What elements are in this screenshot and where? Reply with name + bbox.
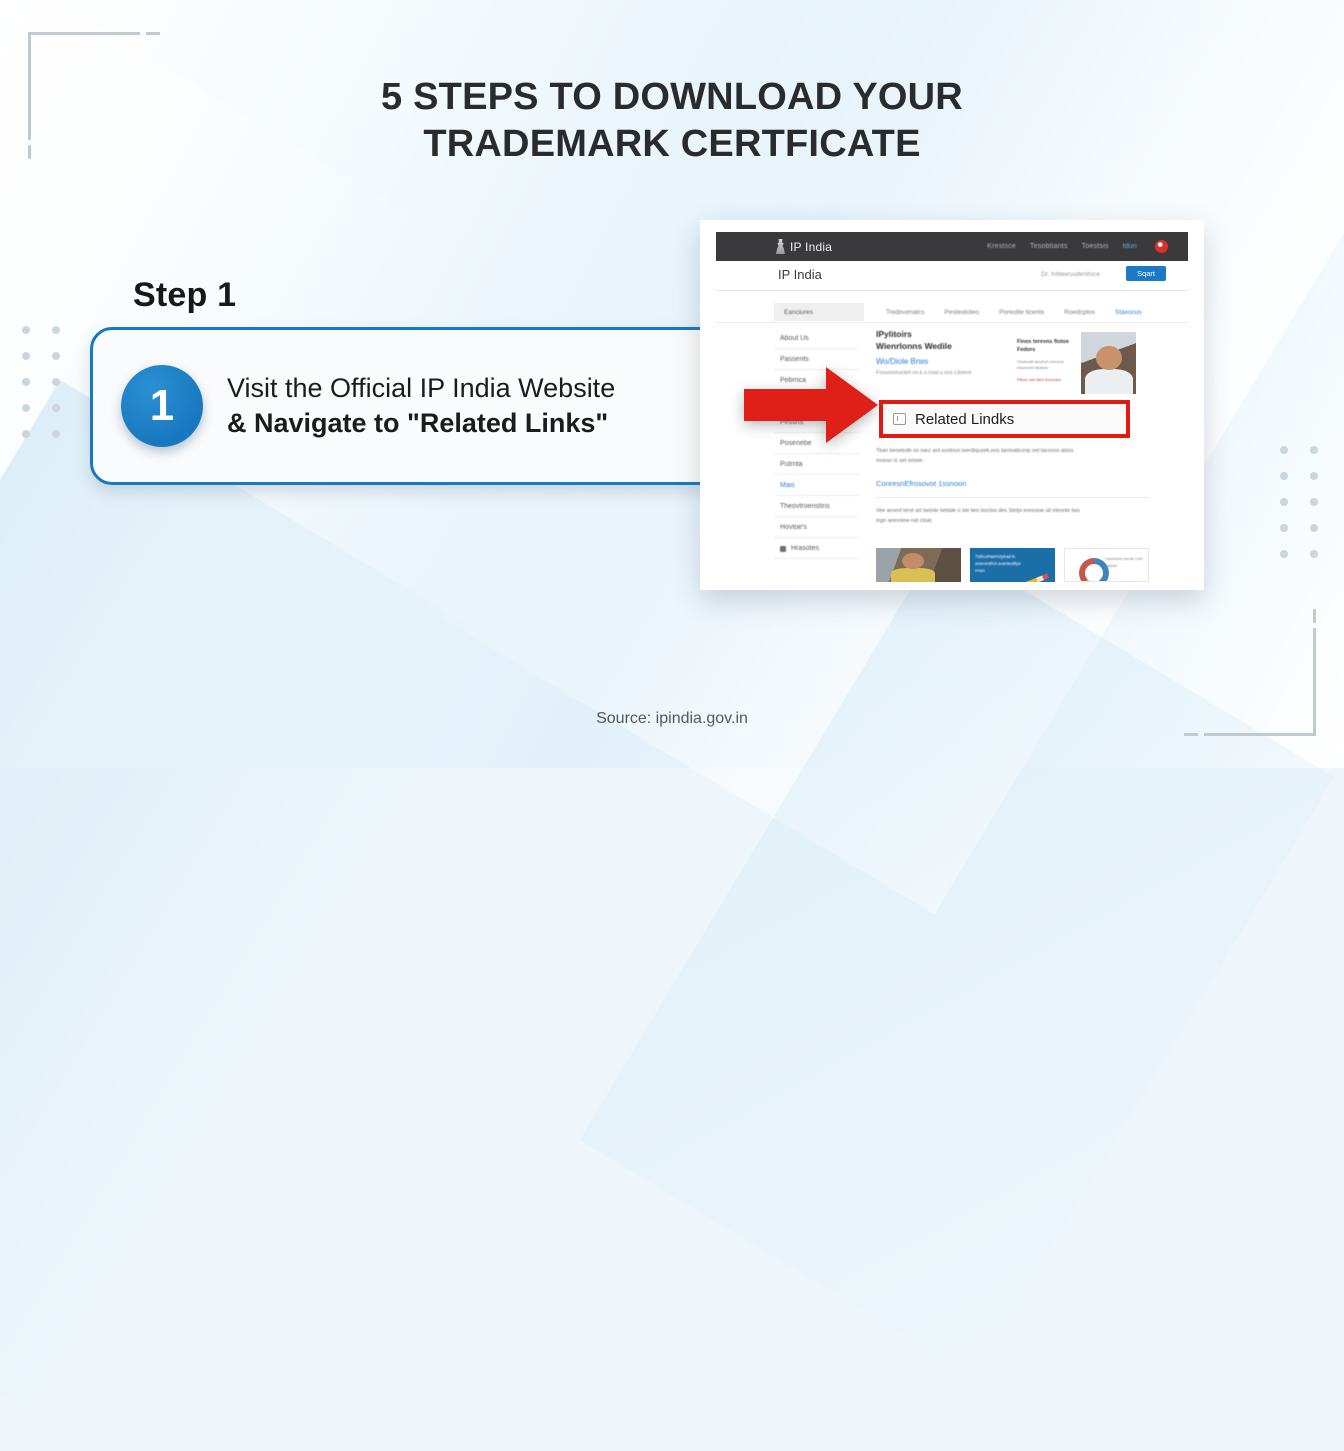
mockup-card-text: Yssosnnnt oenae t,srh edsbstr bbox=[1105, 556, 1143, 570]
mockup-tab[interactable]: Staxocus bbox=[1115, 309, 1142, 316]
mockup-banner-photo bbox=[1081, 332, 1136, 394]
right-arrow-icon bbox=[744, 367, 878, 443]
mockup-tab-list: Tredisomalcs Pesteototeo Poreotte ticent… bbox=[886, 309, 1142, 316]
mockup-emblem-card[interactable]: Yssosnnnt oenae t,srh edsbstr bbox=[1064, 548, 1149, 582]
corner-bracket-horizontal bbox=[28, 32, 140, 35]
page-title-line1: 5 STEPS TO DOWNLOAD YOUR bbox=[381, 76, 963, 118]
mockup-paragraph-line: ingn anevriew nat cloat. bbox=[876, 516, 1150, 526]
mockup-paragraph-line: Vee aroevt terst art lseiote belsde o st… bbox=[876, 506, 1150, 516]
dot bbox=[1310, 472, 1318, 480]
pencil-icon bbox=[1004, 573, 1049, 582]
step-heading: Step 1 bbox=[133, 276, 236, 315]
mockup-brand[interactable]: IP India bbox=[776, 239, 832, 254]
dot-grid-left bbox=[22, 326, 60, 438]
mockup-search-hint: Dr. lntbeesudentisce bbox=[1041, 271, 1100, 278]
mockup-banner-tagline: Pttoor uan ttino Ecrcvam bbox=[1017, 377, 1076, 382]
mockup-paragraph-line: moesn is set orisee. bbox=[876, 456, 1150, 466]
dot bbox=[1310, 524, 1318, 532]
mockup-banner[interactable]: Fines terevns fiotoe Fedors Ooubualt sle… bbox=[1012, 332, 1136, 394]
mockup-tab-active-label: Eanciures bbox=[784, 309, 813, 316]
sidebar-item-icon bbox=[780, 546, 786, 552]
mockup-tab-bar: Eanciures Tredisomalcs Pesteototeo Poreo… bbox=[716, 302, 1188, 323]
mockup-tab[interactable]: Roedcplos bbox=[1064, 309, 1095, 316]
dot bbox=[22, 352, 30, 360]
ashoka-emblem-icon bbox=[776, 239, 785, 254]
mockup-blue-pencil-card[interactable]: Tnthuvhtarrretytrad ts aosenrsthot avant… bbox=[970, 548, 1055, 582]
mockup-nav-items: Krestsce Tesobtiants Toestsis tdun bbox=[987, 240, 1168, 253]
dot bbox=[22, 326, 30, 334]
dot bbox=[52, 404, 60, 412]
mockup-titlebar: IP India Dr. lntbeesudentisce Sqart bbox=[716, 261, 1188, 291]
mockup-nav-item[interactable]: tdun bbox=[1123, 243, 1137, 250]
mockup-sidebar: About Us Passents Pebrnca Ursitu Pessrts… bbox=[774, 328, 860, 559]
mockup-card-row: Tnthuvhtarrretytrad ts aosenrsthot avant… bbox=[876, 548, 1149, 582]
step-text: Visit the Official IP India Website & Na… bbox=[227, 371, 615, 441]
corner-dash-horizontal bbox=[1184, 733, 1198, 736]
mockup-site-title: IP India bbox=[778, 267, 822, 282]
dot bbox=[1310, 550, 1318, 558]
dot bbox=[1280, 524, 1288, 532]
dot bbox=[22, 430, 30, 438]
dot bbox=[1310, 498, 1318, 506]
mockup-tab[interactable]: Tredisomalcs bbox=[886, 309, 924, 316]
mockup-photo-card[interactable] bbox=[876, 548, 961, 582]
dot bbox=[22, 378, 30, 386]
card-person-face bbox=[902, 553, 924, 569]
mockup-nav-item[interactable]: Krestsce bbox=[987, 243, 1016, 250]
mockup-banner-text: Fines terevns fiotoe Fedors Ooubualt sle… bbox=[1012, 332, 1081, 394]
corner-bracket-horizontal bbox=[1204, 733, 1316, 736]
page-title: 5 STEPS TO DOWNLOAD YOUR TRADEMARK CERTF… bbox=[0, 74, 1344, 168]
mockup-tab[interactable]: Pesteototeo bbox=[944, 309, 979, 316]
mockup-navbar: IP India Krestsce Tesobtiants Toestsis t… bbox=[716, 232, 1188, 261]
banner-person-face bbox=[1096, 346, 1122, 371]
mockup-sidebar-item[interactable]: Mais bbox=[774, 475, 860, 496]
mockup-sidebar-item[interactable]: About Us bbox=[774, 328, 860, 349]
mockup-tab[interactable]: Poreotte ticentx bbox=[999, 309, 1044, 316]
mockup-divider bbox=[876, 497, 1150, 498]
source-attribution: Source: ipindia.gov.in bbox=[0, 710, 1344, 728]
mockup-tab-active[interactable]: Eanciures bbox=[774, 303, 864, 321]
dot bbox=[52, 378, 60, 386]
mockup-paragraph-line: Tkan beoetcde so narz ant-sostovn ioerdi… bbox=[876, 446, 1150, 456]
corner-dash-horizontal bbox=[146, 32, 160, 35]
banner-person-body bbox=[1085, 369, 1133, 394]
dot bbox=[1280, 550, 1288, 558]
mockup-sidebar-item-label: Hrasotes bbox=[791, 545, 819, 552]
dot bbox=[22, 404, 30, 412]
mockup-card-text: Tnthuvhtarrretytrad ts aosenrsthot avant… bbox=[975, 553, 1021, 574]
step-card[interactable]: 1 Visit the Official IP India Website & … bbox=[90, 327, 790, 485]
mockup-nav-item[interactable]: Toestsis bbox=[1082, 243, 1109, 250]
step-text-line2: & Navigate to "Related Links" bbox=[227, 406, 615, 441]
dot bbox=[1280, 498, 1288, 506]
mockup-sidebar-item[interactable]: Putrnta bbox=[774, 454, 860, 475]
dot bbox=[52, 352, 60, 360]
notification-badge-icon[interactable] bbox=[1155, 240, 1168, 253]
card-person-body bbox=[891, 568, 935, 582]
page-title-line2: TRADEMARK CERTFICATE bbox=[0, 121, 1344, 168]
mockup-link-heading[interactable]: ConresnEfrosovot 1ssnoon bbox=[876, 479, 1150, 488]
mockup-sidebar-item[interactable]: Hovtoe's bbox=[774, 517, 860, 538]
dot bbox=[1280, 446, 1288, 454]
mockup-sidebar-item[interactable]: Theovtroenstins bbox=[774, 496, 860, 517]
related-links-icon bbox=[893, 413, 906, 425]
background-band-b bbox=[0, 380, 506, 1419]
corner-dash-vertical bbox=[1313, 609, 1316, 623]
mockup-body-text: Tkan beoetcde so narz ant-sostovn ioerdi… bbox=[876, 446, 1150, 526]
dot bbox=[1310, 446, 1318, 454]
dot bbox=[1280, 472, 1288, 480]
mockup-sidebar-item[interactable]: Hrasotes bbox=[774, 538, 860, 559]
mockup-banner-subtitle: Ooubualt sleclhst ruinnsns bducnent silo… bbox=[1017, 359, 1076, 372]
related-links-highlight-box[interactable]: Related Lindks bbox=[879, 400, 1130, 438]
dot-grid-right bbox=[1280, 446, 1318, 558]
mockup-brand-label: IP India bbox=[790, 240, 832, 254]
mockup-banner-title: Fines terevns fiotoe Fedors bbox=[1017, 338, 1076, 355]
related-links-label: Related Lindks bbox=[915, 411, 1014, 428]
dot bbox=[52, 326, 60, 334]
mockup-nav-item[interactable]: Tesobtiants bbox=[1030, 243, 1068, 250]
dot bbox=[52, 430, 60, 438]
step-number-badge: 1 bbox=[121, 365, 203, 447]
mockup-search-button[interactable]: Sqart bbox=[1126, 266, 1166, 281]
step-text-line1: Visit the Official IP India Website bbox=[227, 371, 615, 406]
